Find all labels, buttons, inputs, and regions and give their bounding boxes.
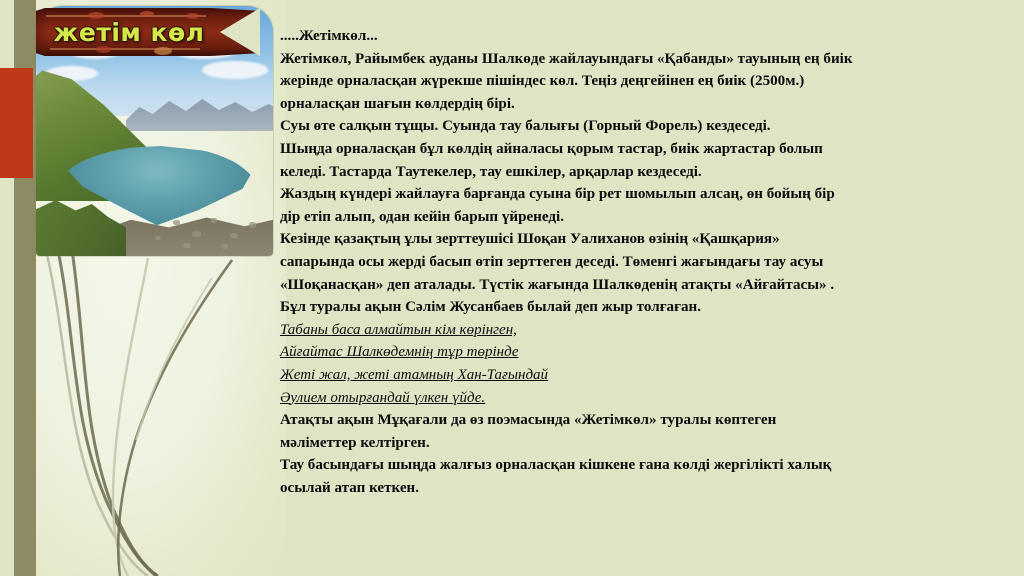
body-line: Бұл туралы ақын Сәлім Жусанбаев былай де… [280, 296, 1020, 319]
body-line: Суы өте салқын тұщы. Суында тау балығы (… [280, 115, 1020, 138]
body-line: сапарында осы жерді басып өтіп зерттеген… [280, 251, 1020, 274]
body-line: «Шоқанасқан» деп аталады. Түстік жағында… [280, 274, 1020, 297]
cloud-shape [202, 61, 268, 79]
body-line: келеді. Тастарда Таутекелер, тау ешкілер… [280, 161, 1020, 184]
verse-line: Табаны баса алмайтын кім көрінген, [280, 319, 1020, 342]
body-line: орналасқан шағын көлдердің бірі. [280, 93, 1020, 116]
banner-title-text: жетім көл [36, 8, 222, 56]
verse-line: Әулием отырғандай үлкен үйде. [280, 387, 1020, 410]
body-line: Жетімкөл, Райымбек ауданы Шалкөде жайлау… [280, 48, 1020, 71]
body-line: Атақты ақын Мұқағали да өз поэмасында «Ж… [280, 409, 1020, 432]
body-line: жерінде орналасқан жүрекше пішіндес көл.… [280, 70, 1020, 93]
body-line: .....Жетімкөл... [280, 25, 1020, 48]
body-line: Кезінде қазақтың ұлы зерттеушісі Шоқан У… [280, 228, 1020, 251]
body-line: осылай атап кеткен. [280, 477, 1020, 500]
body-line: Жаздың күндері жайлауға барғанда суына б… [280, 183, 1020, 206]
verse-line: Жеті жал, жеті атамның Хан-Тағындай [280, 364, 1020, 387]
body-line: дір етіп алып, одан кейін барып үйренеді… [280, 206, 1020, 229]
slide-canvas: жетім көл .....Жетімкөл... Жетімкөл, Рай… [0, 0, 1024, 576]
verse-line: Айғайтас Шалкөдемнің тұр төрінде [280, 341, 1020, 364]
body-line: Шыңда орналасқан бұл көлдің айналасы қор… [280, 138, 1020, 161]
left-red-accent-block [0, 68, 33, 178]
body-line: Тау басындағы шыңда жалғыз орналасқан кі… [280, 454, 1020, 477]
slide-body-text: .....Жетімкөл... Жетімкөл, Райымбек ауда… [280, 25, 1020, 499]
title-banner: жетім көл [36, 8, 260, 56]
body-line: мәліметтер келтірген. [280, 432, 1020, 455]
